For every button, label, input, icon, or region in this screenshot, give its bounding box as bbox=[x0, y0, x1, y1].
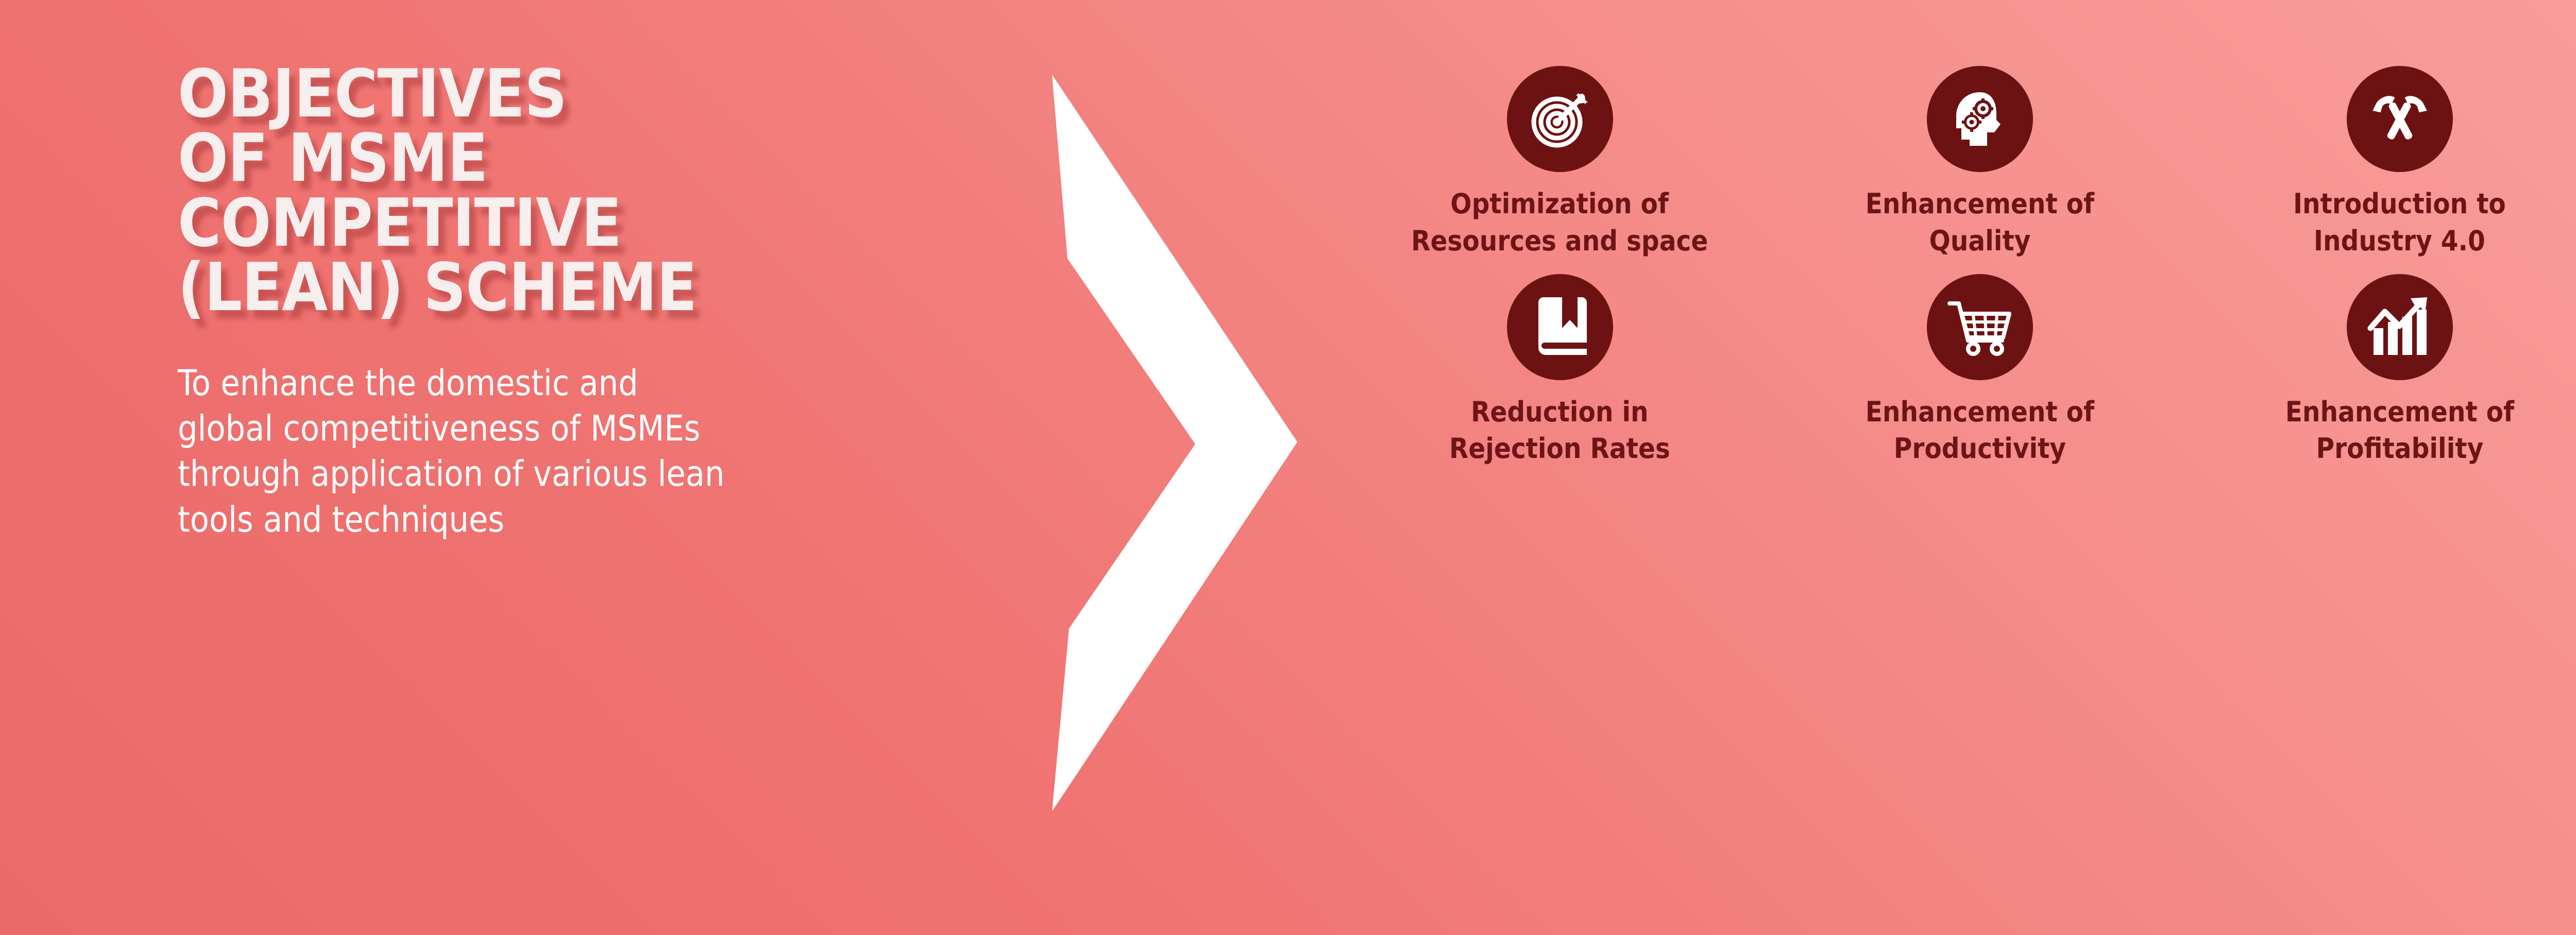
description-line: tools and techniques bbox=[178, 497, 903, 542]
label-line: Optimization of bbox=[1411, 185, 1708, 223]
objective-label: Enhancement of Productivity bbox=[1865, 394, 2094, 468]
title-line: COMPETITIVE bbox=[178, 191, 920, 256]
objective-card-profitability[interactable]: Enhancement of Profitability bbox=[2190, 274, 2576, 468]
label-line: Quality bbox=[1865, 223, 2094, 260]
objective-card-productivity[interactable]: Enhancement of Productivity bbox=[1770, 274, 2190, 468]
objective-label: Reduction in Rejection Rates bbox=[1449, 394, 1670, 468]
crossed-hammers-icon bbox=[2347, 66, 2453, 172]
objective-label: Enhancement of Profitability bbox=[2285, 394, 2514, 468]
description-line: To enhance the domestic and bbox=[178, 361, 903, 406]
title-line: OF MSME bbox=[178, 126, 920, 191]
label-line: Enhancement of bbox=[1865, 185, 2094, 223]
objectives-grid: Optimization of Resources and space bbox=[1350, 66, 2576, 467]
scheme-description: To enhance the domestic and global compe… bbox=[178, 361, 903, 542]
label-line: Industry 4.0 bbox=[2293, 223, 2506, 260]
title-line: OBJECTIVES bbox=[178, 62, 920, 126]
objective-card-quality[interactable]: Enhancement of Quality bbox=[1770, 66, 2190, 260]
objective-card-optimization[interactable]: Optimization of Resources and space bbox=[1350, 66, 1770, 260]
label-line: Productivity bbox=[1865, 430, 2094, 467]
chevron-right-arrowhead-icon bbox=[1041, 57, 1309, 829]
label-line: Enhancement of bbox=[2285, 394, 2514, 431]
label-line: Reduction in bbox=[1449, 394, 1670, 431]
objective-label: Introduction to Industry 4.0 bbox=[2293, 185, 2506, 260]
book-bookmark-icon bbox=[1507, 274, 1613, 380]
target-arrow-icon bbox=[1507, 66, 1613, 172]
objectives-banner: OBJECTIVES OF MSME COMPETITIVE (LEAN) SC… bbox=[0, 0, 2576, 935]
label-line: Rejection Rates bbox=[1449, 430, 1670, 467]
label-line: Resources and space bbox=[1411, 223, 1708, 260]
description-line: through application of various lean bbox=[178, 451, 903, 497]
left-panel: OBJECTIVES OF MSME COMPETITIVE (LEAN) SC… bbox=[178, 62, 1002, 542]
description-line: global competitiveness of MSMEs bbox=[178, 406, 903, 451]
objective-card-rejection[interactable]: Reduction in Rejection Rates bbox=[1350, 274, 1770, 468]
page-title: OBJECTIVES OF MSME COMPETITIVE (LEAN) SC… bbox=[178, 62, 920, 320]
objective-label: Optimization of Resources and space bbox=[1411, 185, 1708, 260]
growth-bar-chart-icon bbox=[2347, 274, 2453, 380]
label-line: Introduction to bbox=[2293, 185, 2506, 223]
objective-label: Enhancement of Quality bbox=[1865, 185, 2094, 260]
title-line: (LEAN) SCHEME bbox=[178, 256, 920, 320]
objective-card-industry40[interactable]: Introduction to Industry 4.0 bbox=[2190, 66, 2576, 260]
label-line: Profitability bbox=[2285, 430, 2514, 467]
head-gears-icon bbox=[1927, 66, 2033, 172]
shopping-cart-icon bbox=[1927, 274, 2033, 380]
label-line: Enhancement of bbox=[1865, 394, 2094, 431]
